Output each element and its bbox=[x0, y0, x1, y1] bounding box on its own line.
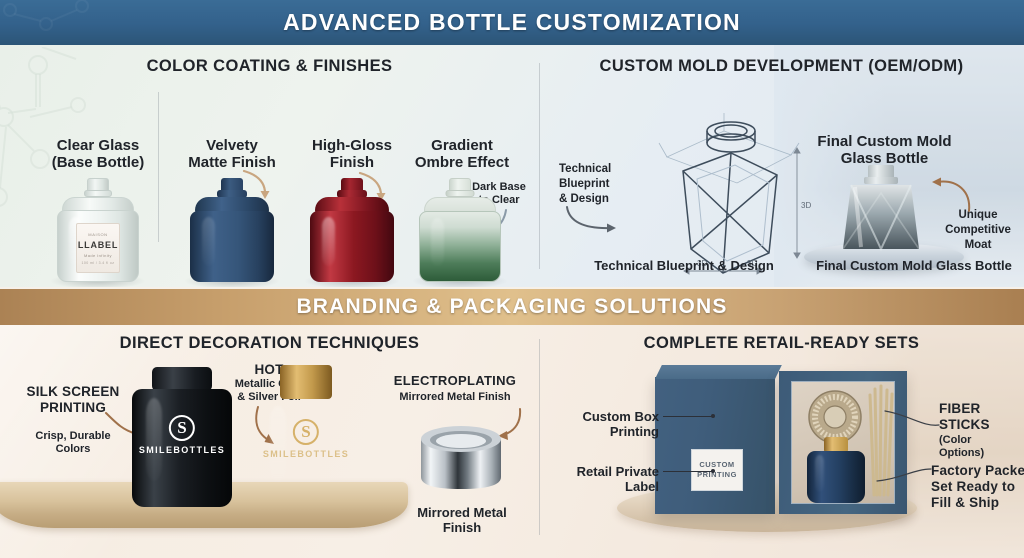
custom-printed-box: CUSTOM PRINTING bbox=[655, 377, 775, 514]
box-lid-top-face bbox=[655, 365, 782, 379]
label-card-line3: Made Infinity bbox=[84, 253, 112, 258]
silk-screen-sub-line1: Crisp, Durable bbox=[12, 430, 134, 443]
label-card-line1: MAISON bbox=[88, 232, 107, 237]
mirrored-metal-caption-line1: Mirrored Metal bbox=[396, 505, 528, 520]
navy-diffuser-bottle-in-box bbox=[803, 437, 869, 503]
high-gloss-top-label-line1: High-Gloss bbox=[292, 137, 412, 155]
custom-box-printing-callout-line2: Printing bbox=[555, 424, 659, 439]
molecule-watermark-icon bbox=[0, 0, 142, 48]
black-bottle-wordmark: SMILEBOTTLES bbox=[139, 445, 225, 455]
custom-mold-panel: CUSTOM MOLD DEVELOPMENT (OEM/ODM) Techni… bbox=[539, 45, 1024, 287]
black-bottle-logo: S SMILEBOTTLES bbox=[139, 415, 225, 455]
top-banner-title: ADVANCED BOTTLE CUSTOMIZATION bbox=[283, 9, 741, 36]
mirrored-metal-caption-line2: Finish bbox=[396, 520, 528, 535]
retail-private-label-callout-line2: Label bbox=[549, 479, 659, 494]
navy-hotfoil-bottle: S SMILEBOTTLES bbox=[252, 365, 360, 507]
velvety-matte-top-label-line2: Matte Finish bbox=[168, 154, 296, 172]
factory-packed-callout-line2: Set Ready to bbox=[931, 479, 1024, 495]
fiber-sticks-callout-line3: (Color bbox=[939, 434, 1024, 447]
electroplating-heading: ELECTROPLATING bbox=[380, 373, 530, 388]
color-coating-panel: COLOR COATING & FINISHES Clear Glass (Ba… bbox=[0, 45, 539, 287]
final-custom-mold-bottle bbox=[821, 163, 941, 255]
retail-private-leader-line bbox=[663, 471, 713, 472]
fiber-sticks-callout-line2: STICKS bbox=[939, 417, 1024, 433]
final-custom-mold-heading-line1: Final Custom Mold bbox=[797, 133, 972, 151]
advanced-customization-section: COLOR COATING & FINISHES Clear Glass (Ba… bbox=[0, 45, 1024, 287]
custom-printing-label: CUSTOM PRINTING bbox=[691, 449, 743, 491]
retail-private-label-callout-line1: Retail Private bbox=[549, 464, 659, 479]
electroplated-metal-jar bbox=[413, 423, 509, 499]
custom-box-leader-line bbox=[663, 416, 713, 417]
final-custom-mold-caption: Final Custom Mold Glass Bottle bbox=[789, 258, 1024, 273]
high-gloss-top-label-line2: Finish bbox=[292, 154, 412, 172]
svg-text:3D: 3D bbox=[801, 201, 811, 210]
navy-bottle-logo: S SMILEBOTTLES bbox=[263, 419, 349, 459]
custom-box-leader-dot bbox=[711, 414, 715, 418]
gradient-ombre-top-label-line1: Gradient bbox=[398, 137, 526, 155]
navy-bottle-wordmark: SMILEBOTTLES bbox=[263, 449, 349, 459]
infographic-page: ADVANCED BOTTLE CUSTOMIZATION COLOR COAT… bbox=[0, 0, 1024, 558]
label-card-line4: 100 ml / 3.4 fl oz bbox=[82, 261, 115, 265]
clear-glass-top-label-line2: (Base Bottle) bbox=[28, 154, 168, 172]
fiber-sticks-callout-line4: Options) bbox=[939, 447, 1024, 460]
silk-screen-heading-line1: SILK SCREEN bbox=[18, 384, 128, 400]
unique-moat-callout-line2: Competitive bbox=[929, 224, 1024, 238]
silk-screen-sub-line2: Colors bbox=[12, 443, 134, 456]
unique-moat-callout-line3: Moat bbox=[935, 239, 1021, 253]
direct-decoration-title: DIRECT DECORATION TECHNIQUES bbox=[0, 334, 539, 353]
clear-glass-bottle: MAISON LLABEL Made Infinity 100 ml / 3.4… bbox=[48, 178, 148, 283]
custom-box-printing-callout-line1: Custom Box bbox=[555, 409, 659, 424]
smilebottles-monogram-icon: S bbox=[169, 415, 195, 441]
custom-printing-label-line1: CUSTOM bbox=[699, 460, 734, 470]
velvety-matte-bottle bbox=[182, 178, 282, 283]
high-gloss-bottle bbox=[302, 178, 402, 283]
factory-packed-callout-line3: Fill & Ship bbox=[931, 495, 1024, 511]
retail-ready-title: COMPLETE RETAIL-READY SETS bbox=[539, 334, 1024, 353]
blueprint-arrow-icon bbox=[563, 205, 623, 237]
custom-mold-title: CUSTOM MOLD DEVELOPMENT (OEM/ODM) bbox=[539, 57, 1024, 76]
branding-packaging-section: DIRECT DECORATION TECHNIQUES SILK SCREEN… bbox=[0, 325, 1024, 558]
technical-blueprint-caption: Technical Blueprint & Design bbox=[569, 258, 799, 273]
factory-packed-callout-line1: Factory Packed: bbox=[931, 463, 1024, 479]
smilebottles-gold-monogram-icon: S bbox=[293, 419, 319, 445]
color-coating-title: COLOR COATING & FINISHES bbox=[0, 57, 539, 76]
gradient-ombre-top-label-line2: Ombre Effect bbox=[398, 154, 526, 172]
velvety-matte-top-label-line1: Velvety bbox=[168, 137, 296, 155]
retail-private-leader-dot bbox=[711, 469, 715, 473]
clear-glass-top-label-line1: Clear Glass bbox=[28, 137, 168, 155]
silk-screen-heading-line2: PRINTING bbox=[18, 400, 128, 416]
top-banner: ADVANCED BOTTLE CUSTOMIZATION bbox=[0, 0, 1024, 45]
electroplating-sub: Mirrored Metal Finish bbox=[380, 391, 530, 404]
middle-banner-title: BRANDING & PACKAGING SOLUTIONS bbox=[296, 295, 727, 319]
fiber-sticks-callout-line1: FIBER bbox=[939, 401, 1024, 417]
label-card-line2: LLABEL bbox=[78, 240, 118, 250]
base-bottle-label-card: MAISON LLABEL Made Infinity 100 ml / 3.4… bbox=[76, 223, 120, 273]
unique-moat-callout-line1: Unique bbox=[935, 209, 1021, 223]
direct-decoration-panel: DIRECT DECORATION TECHNIQUES SILK SCREEN… bbox=[0, 325, 539, 558]
gradient-ombre-bottle bbox=[410, 178, 510, 283]
middle-banner: BRANDING & PACKAGING SOLUTIONS bbox=[0, 287, 1024, 325]
retail-ready-panel: COMPLETE RETAIL-READY SETS CUSTOM PRINTI… bbox=[539, 325, 1024, 558]
